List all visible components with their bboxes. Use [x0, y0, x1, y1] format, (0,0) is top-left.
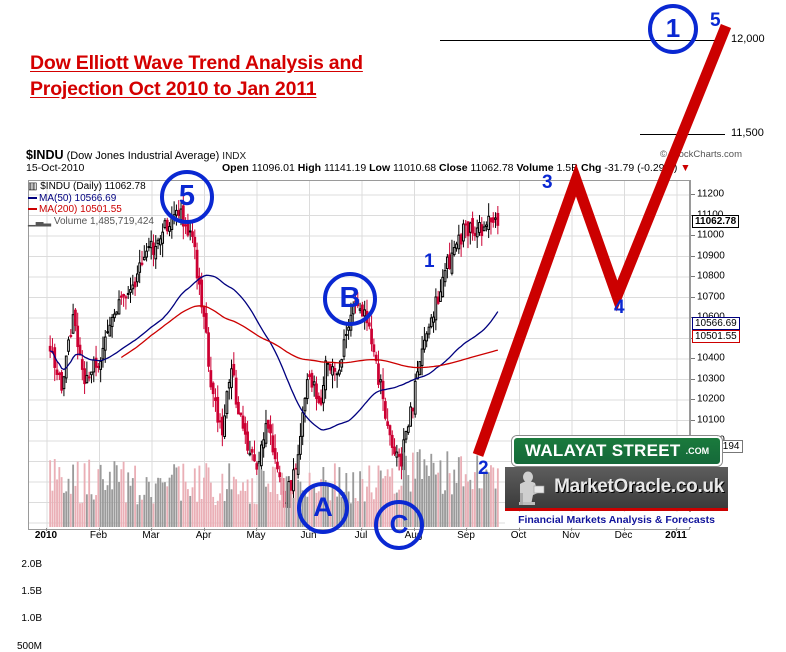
chart-quote-line: Open 11096.01 High 11141.19 Low 11010.68… — [222, 162, 691, 174]
price-axis-tick — [691, 420, 695, 421]
date-axis-label-May: May — [247, 530, 266, 541]
price-axis-tick — [691, 235, 695, 236]
page-title-line-1: Dow Elliott Wave Trend Analysis and — [30, 50, 530, 76]
legend-ma50-text: MA(50) 10566.69 — [39, 193, 116, 204]
date-axis-label-Sep: Sep — [457, 530, 475, 541]
ma50-swatch-icon — [28, 197, 37, 199]
date-axis-label-Oct: Oct — [511, 530, 527, 541]
legend-volume-text: Volume 1,485,719,424 — [54, 216, 154, 227]
price-axis-label-10900: 10900 — [697, 250, 725, 261]
wave-marker-2: 2 — [478, 458, 489, 480]
chg-percent: (-0.29%) — [637, 162, 677, 174]
wave-marker-circled-a: A — [297, 482, 349, 534]
candle-icon: ▥ — [28, 181, 37, 192]
chart-legend: ▥ $INDU (Daily) 11062.78 MA(50) 10566.69… — [28, 181, 154, 227]
close-label: Close — [439, 162, 468, 174]
close-value: 11062.78 — [471, 162, 514, 174]
legend-price: ▥ $INDU (Daily) 11062.78 — [28, 181, 154, 193]
price-axis-tick — [691, 256, 695, 257]
date-axis-label-Apr: Apr — [196, 530, 212, 541]
price-axis-label-10700: 10700 — [697, 291, 725, 302]
price-axis-tick — [691, 358, 695, 359]
open-value: 11096.01 — [252, 162, 295, 174]
low-value: 11010.68 — [393, 162, 436, 174]
price-axis-tick — [691, 194, 695, 195]
page-title: Dow Elliott Wave Trend Analysis and Proj… — [30, 50, 530, 102]
price-axis-tick — [691, 399, 695, 400]
wave-marker-circled-5: 5 — [160, 170, 214, 224]
wave-marker-circled-c: C — [374, 500, 424, 550]
market-oracle-divider — [505, 508, 728, 511]
chart-symbol: $INDU — [26, 148, 64, 162]
outer-tick-11500: 11,500 — [731, 127, 764, 139]
close-price-tag: 11062.78 — [692, 215, 739, 228]
chart-exchange: INDX — [222, 151, 246, 162]
legend-price-text: $INDU (Daily) 11062.78 — [40, 181, 145, 192]
date-axis-label-2011: 2011 — [665, 530, 687, 541]
price-axis-label-10400: 10400 — [697, 353, 725, 364]
high-value: 11141.19 — [324, 162, 366, 174]
date-axis-label-Dec: Dec — [615, 530, 633, 541]
volume-value: 1.5B — [557, 162, 579, 174]
date-axis-label-Jul: Jul — [355, 530, 368, 541]
page-title-line-2: Projection Oct 2010 to Jan 2011 — [30, 76, 530, 102]
high-label: High — [298, 162, 321, 174]
wave-marker-circled-b: B — [323, 272, 377, 326]
walayat-street-suffix: .COM — [686, 446, 710, 456]
ma200-price-tag: 10501.55 — [692, 330, 740, 343]
stockcharts-copyright: © StockCharts.com — [660, 149, 742, 160]
legend-volume: ▁▃▂ Volume 1,485,719,424 — [28, 216, 154, 228]
wave-marker-4: 4 — [614, 297, 625, 319]
price-axis-label-11200: 11200 — [697, 189, 724, 200]
ma200-swatch-icon — [28, 208, 37, 210]
price-axis-label-10200: 10200 — [697, 394, 725, 405]
price-axis-tick — [691, 379, 695, 380]
chart-date: 15-Oct-2010 — [26, 162, 84, 174]
volume-bars-icon: ▁▃▂ — [28, 216, 51, 227]
wave-marker-1: 1 — [424, 251, 435, 273]
legend-ma50: MA(50) 10566.69 — [28, 193, 154, 205]
legend-ma200: MA(200) 10501.55 — [28, 204, 154, 216]
market-oracle-tagline: Financial Markets Analysis & Forecasts — [505, 512, 728, 527]
volume-axis-label-1b: 1.0B — [6, 613, 42, 624]
date-axis-label-2010: 2010 — [35, 530, 57, 541]
price-axis-label-10300: 10300 — [697, 373, 725, 384]
outer-tick-12000: 12,000 — [731, 33, 765, 45]
legend-ma200-text: MA(200) 10501.55 — [39, 204, 122, 215]
walayat-street-name: WALAYAT STREET — [525, 441, 681, 461]
price-axis-tick — [691, 276, 695, 277]
volume-axis-label-2b: 2.0B — [6, 559, 42, 570]
market-oracle-name: MarketOracle.co.uk — [554, 476, 724, 498]
seated-figure-icon — [511, 469, 551, 507]
ma50-price-tag: 10566.69 — [692, 317, 740, 330]
chart-header: $INDU (Dow Jones Industrial Average) IND… — [26, 148, 742, 180]
volume-axis-label-1_5b: 1.5B — [6, 586, 42, 597]
date-axis-label-Feb: Feb — [90, 530, 107, 541]
price-axis-label-11000: 11000 — [697, 230, 724, 241]
down-caret-icon: ▼ — [680, 162, 690, 174]
date-axis-label-Nov: Nov — [562, 530, 580, 541]
open-label: Open — [222, 162, 249, 174]
price-axis-label-10100: 10100 — [697, 414, 725, 425]
date-axis: 2010FebMarAprMayJunJulAugSepOctNovDec201… — [28, 528, 688, 548]
wave-marker-circled-1: 1 — [648, 4, 698, 54]
volume-axis-label-500m: 500M — [6, 641, 42, 652]
price-axis-tick — [691, 297, 695, 298]
walayat-street-logo: WALAYAT STREET .COM — [512, 436, 722, 466]
chg-value: -31.79 — [604, 162, 634, 174]
price-axis-label-10800: 10800 — [697, 271, 725, 282]
low-label: Low — [369, 162, 390, 174]
chg-label: Chg — [581, 162, 601, 174]
market-oracle-logo: MarketOracle.co.uk — [505, 467, 728, 509]
chart-symbol-description: (Dow Jones Industrial Average) — [67, 150, 220, 162]
wave-marker-5: 5 — [710, 10, 721, 32]
wave-marker-3: 3 — [542, 172, 553, 194]
outer-gridline-11500 — [640, 134, 725, 135]
date-axis-label-Mar: Mar — [142, 530, 159, 541]
